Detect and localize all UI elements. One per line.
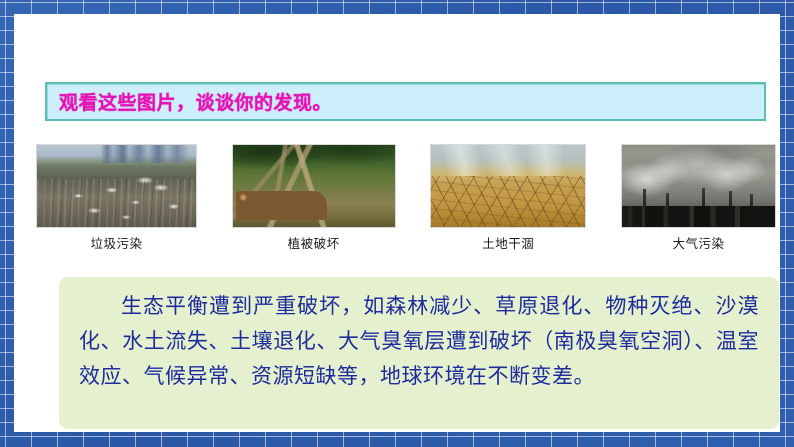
photo-cell-dry-land: 土地干涸 (430, 144, 586, 252)
photo-caption-deforestation: 植被破坏 (288, 233, 340, 252)
photo-caption-garbage-pollution: 垃圾污染 (90, 233, 142, 252)
smokestack-icon (643, 189, 646, 210)
smokestack-icon (729, 191, 732, 211)
summary-paragraph: 生态平衡遭到严重破坏，如森林减少、草原退化、物种灭绝、沙漠化、水土流失、土壤退化… (79, 289, 759, 394)
smokestack-icon (666, 193, 669, 211)
slide-frame: 观看这些图片，谈谈你的发现。 垃圾污染 植被破坏 土地干涸 (0, 0, 794, 447)
air-pollution-photo (621, 144, 776, 228)
image-strip: 垃圾污染 植被破坏 土地干涸 大气污染 (36, 144, 776, 254)
summary-panel: 生态平衡遭到严重破坏，如森林减少、草原退化、物种灭绝、沙漠化、水土流失、土壤退化… (59, 277, 779, 429)
garbage-pollution-photo (36, 144, 197, 228)
slide-canvas: 观看这些图片，谈谈你的发现。 垃圾污染 植被破坏 土地干涸 (14, 14, 780, 432)
title-banner: 观看这些图片，谈谈你的发现。 (45, 82, 766, 121)
title-text: 观看这些图片，谈谈你的发现。 (59, 88, 332, 115)
dry-land-photo (430, 144, 586, 228)
deforestation-photo (232, 144, 396, 228)
photo-caption-dry-land: 土地干涸 (482, 233, 534, 252)
photo-cell-garbage-pollution: 垃圾污染 (36, 144, 197, 252)
photo-cell-deforestation: 植被破坏 (232, 144, 396, 252)
photo-caption-air-pollution: 大气污染 (672, 233, 724, 252)
smokestack-icon (702, 188, 705, 211)
smokestack-icon (750, 194, 753, 210)
photo-cell-air-pollution: 大气污染 (621, 144, 776, 252)
